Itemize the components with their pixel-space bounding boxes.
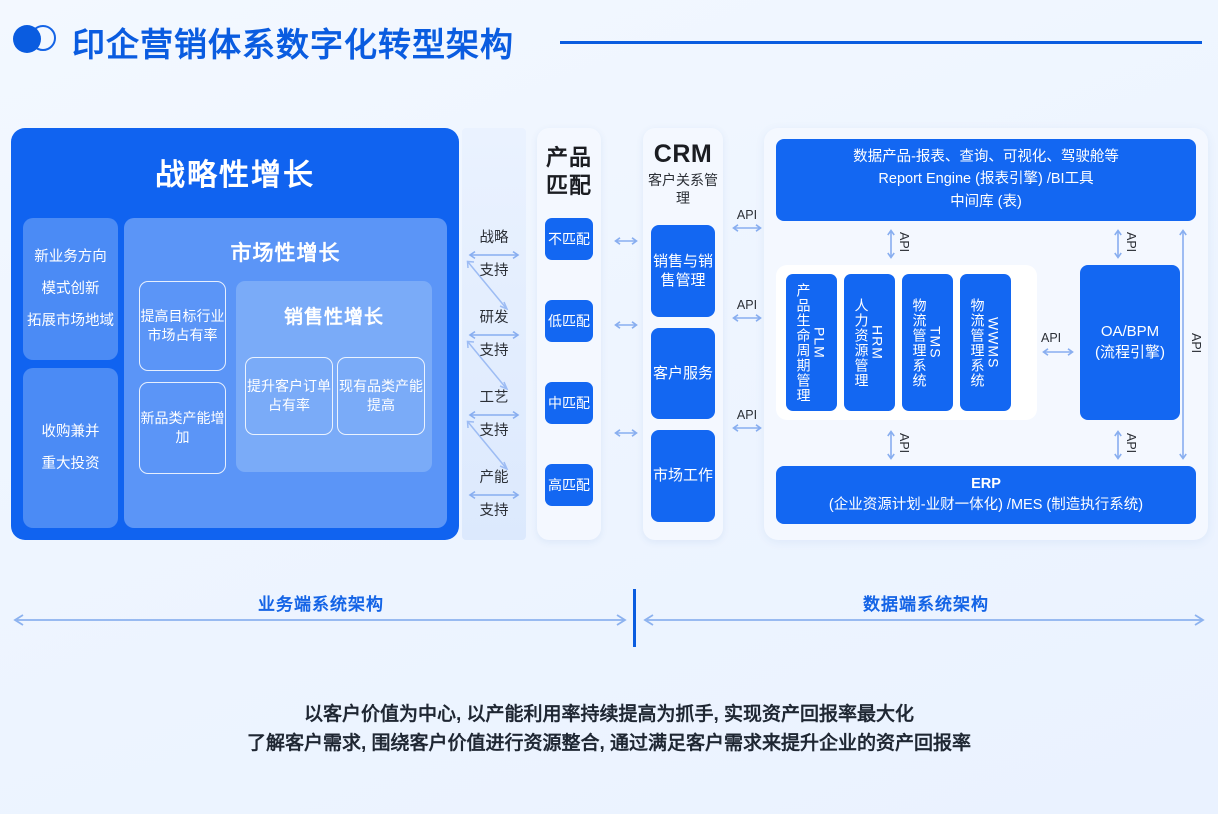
- pm-crm-arrow-1: [612, 236, 640, 246]
- crm-box-sales-management[interactable]: 销售与销售管理: [651, 225, 715, 317]
- product-match-box-no-match[interactable]: 不匹配: [545, 218, 593, 260]
- api-text-long: API: [1189, 333, 1203, 353]
- product-match-box-medium-match[interactable]: 中匹配: [545, 382, 593, 424]
- erp-line-1: ERP: [971, 476, 1001, 493]
- support-label-capacity-bottom: 支持: [462, 499, 526, 520]
- product-match-box-low-match[interactable]: 低匹配: [545, 300, 593, 342]
- api-text-1: API: [730, 208, 764, 222]
- crm-api-label-1: API: [730, 208, 764, 233]
- data-axis-arrow: [640, 613, 1208, 627]
- sales-outline-order-share: 提升客户订单占有率: [245, 357, 333, 435]
- api-text-mid-erp: API: [897, 433, 911, 453]
- system-code-plm: PLM: [812, 327, 828, 359]
- business-axis-arrow: [10, 613, 630, 627]
- sales-outline-capacity: 现有品类产能提高: [337, 357, 425, 435]
- data-side-label: 数据端系统架构: [841, 590, 1011, 615]
- crm-api-label-3: API: [730, 408, 764, 433]
- product-match-title-line1: 产品: [537, 144, 601, 172]
- system-label-plm: 产品生命周期管理: [795, 283, 811, 403]
- system-code-wwms: WWMS: [986, 317, 1002, 368]
- product-match-box-high-match[interactable]: 高匹配: [545, 464, 593, 506]
- side-item-expand-region: 拓展市场地域: [27, 312, 114, 330]
- product-match-title-line2: 匹配: [537, 172, 601, 200]
- side-item-model-innovation: 模式创新: [42, 280, 100, 298]
- axis-divider-bar: [633, 589, 636, 647]
- crm-box-market-work[interactable]: 市场工作: [651, 430, 715, 522]
- oa-line-2: (流程引擎): [1095, 343, 1165, 363]
- crm-subtitle: 客户关系管理: [643, 172, 723, 208]
- system-label-tms: 物流管理系统: [911, 298, 927, 388]
- bi-report-engine-box: 数据产品-报表、查询、可视化、驾驶舱等 Report Engine (报表引擎)…: [776, 139, 1196, 221]
- pm-crm-arrow-3: [612, 428, 640, 438]
- bi-line-3: 中间库 (表): [950, 194, 1022, 211]
- business-side-label: 业务端系统架构: [236, 590, 406, 615]
- system-label-hrm: 人力资源管理: [853, 298, 869, 388]
- half-circle-logo-icon: [13, 25, 59, 53]
- crm-title: CRM: [643, 140, 723, 169]
- footer-line-2: 了解客户需求, 围绕客户价值进行资源整合, 通过满足客户需求来提升企业的资产回报…: [0, 729, 1218, 758]
- strategy-side-box-investment: 收购兼并 重大投资: [23, 368, 118, 528]
- sales-growth-box: 销售性增长 提升客户订单占有率 现有品类产能提高: [236, 281, 432, 472]
- strategic-growth-panel: 战略性增长 新业务方向 模式创新 拓展市场地域 收购兼并 重大投资 市场性增长 …: [11, 128, 459, 540]
- system-label-wwms: 物流管理系统: [969, 298, 985, 388]
- market-outline-industry-share: 提高目标行业市场占有率: [139, 281, 226, 371]
- pm-crm-arrow-2: [612, 320, 640, 330]
- api-arrow-mid-to-oa: [1040, 347, 1076, 357]
- system-code-hrm: HRM: [870, 325, 886, 360]
- erp-line-2: (企业资源计划-业财一体化) /MES (制造执行系统): [829, 497, 1143, 514]
- oa-line-1: OA/BPM: [1101, 322, 1159, 342]
- bi-line-2: Report Engine (报表引擎) /BI工具: [878, 171, 1093, 188]
- data-architecture-panel: 数据产品-报表、查询、可视化、驾驶舱等 Report Engine (报表引擎)…: [764, 128, 1208, 540]
- api-text-oa-erp: API: [1124, 433, 1138, 453]
- page-header: 印企营销体系数字化转型架构: [0, 0, 1218, 86]
- side-item-acquisition: 收购兼并: [42, 423, 100, 441]
- title-rule-divider: [560, 41, 1202, 44]
- crm-api-label-2: API: [730, 298, 764, 323]
- core-systems-group: 产品生命周期管理PLM 人力资源管理HRM 物流管理系统TMS 物流管理系统WW…: [776, 265, 1037, 420]
- footer-line-1: 以客户价值为中心, 以产能利用率持续提高为抓手, 实现资产回报率最大化: [0, 700, 1218, 729]
- system-box-tms[interactable]: 物流管理系统TMS: [902, 274, 953, 411]
- side-item-major-investment: 重大投资: [42, 455, 100, 473]
- api-text-3: API: [730, 408, 764, 422]
- erp-mes-box[interactable]: ERP (企业资源计划-业财一体化) /MES (制造执行系统): [776, 466, 1196, 524]
- support-arrow-column: 战略 支持 研发 支持 工艺 支持 产能 支持: [462, 128, 526, 540]
- sales-growth-title: 销售性增长: [236, 302, 432, 329]
- market-outline-new-category: 新品类产能增加: [139, 382, 226, 474]
- api-arrow-bi-to-oa: [1113, 227, 1123, 261]
- system-box-wwms[interactable]: 物流管理系统WWMS: [960, 274, 1011, 411]
- api-text-bi-oa: API: [1124, 232, 1138, 252]
- oa-bpm-box[interactable]: OA/BPM (流程引擎): [1080, 265, 1180, 420]
- footer-statement: 以客户价值为中心, 以产能利用率持续提高为抓手, 实现资产回报率最大化 了解客户…: [0, 700, 1218, 759]
- api-arrow-bi-to-mid: [886, 227, 896, 261]
- api-text-2: API: [730, 298, 764, 312]
- strategy-side-box-new-business: 新业务方向 模式创新 拓展市场地域: [23, 218, 118, 360]
- api-arrow-oa-to-erp: [1113, 428, 1123, 462]
- strategic-growth-title: 战略性增长: [11, 150, 459, 194]
- bi-line-1: 数据产品-报表、查询、可视化、驾驶舱等: [853, 149, 1119, 166]
- market-growth-box: 市场性增长 提高目标行业市场占有率 新品类产能增加 销售性增长 提升客户订单占有…: [124, 218, 447, 528]
- api-text-mid-oa: API: [1041, 331, 1061, 345]
- diagonal-arrow-1: [464, 258, 512, 314]
- page-title: 印企营销体系数字化转型架构: [72, 18, 514, 66]
- system-box-plm[interactable]: 产品生命周期管理PLM: [786, 274, 837, 411]
- api-arrow-bi-to-erp-long: [1178, 227, 1188, 462]
- support-label-strategy-top: 战略: [462, 226, 526, 247]
- product-match-column: 产品 匹配 不匹配 低匹配 中匹配 高匹配: [537, 128, 601, 540]
- market-growth-title: 市场性增长: [124, 237, 447, 267]
- diagonal-arrow-2: [464, 338, 512, 394]
- crm-box-customer-service[interactable]: 客户服务: [651, 328, 715, 419]
- system-box-hrm[interactable]: 人力资源管理HRM: [844, 274, 895, 411]
- crm-column: CRM 客户关系管理 销售与销售管理 客户服务 市场工作: [643, 128, 723, 540]
- side-item-new-direction: 新业务方向: [34, 248, 107, 266]
- api-arrow-mid-to-erp: [886, 428, 896, 462]
- api-text-bi-mid: API: [897, 232, 911, 252]
- diagonal-arrow-3: [464, 418, 512, 474]
- product-match-title: 产品 匹配: [537, 144, 601, 199]
- system-code-tms: TMS: [928, 326, 944, 359]
